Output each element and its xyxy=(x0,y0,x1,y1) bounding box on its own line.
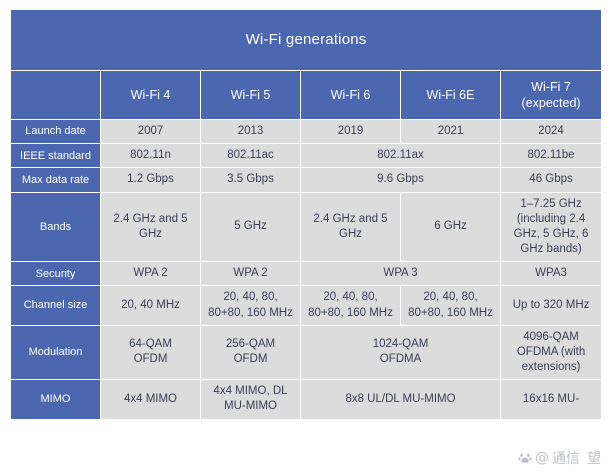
table-cell: 2019 xyxy=(301,120,401,144)
table-row: Modulation64-QAMOFDM256-QAMOFDM1024-QAMO… xyxy=(11,325,602,380)
table-cell: 16x16 MU- xyxy=(501,380,602,419)
table-cell: 2.4 GHz and 5 GHz xyxy=(101,192,201,262)
wifi-generations-table: Wi-Fi generations Wi-Fi 4 Wi-Fi 5 Wi-Fi … xyxy=(10,9,602,420)
page-title: Wi-Fi generations xyxy=(11,10,602,71)
row-label: Modulation xyxy=(11,325,101,380)
table-cell: 5 GHz xyxy=(201,192,301,262)
table-row: Bands2.4 GHz and 5 GHz5 GHz2.4 GHz and 5… xyxy=(11,192,602,262)
table-row: SecurityWPA 2WPA 2WPA 3WPA3 xyxy=(11,262,602,286)
row-label: IEEE standard xyxy=(11,144,101,168)
table-cell: 20, 40, 80, 80+80, 160 MHz xyxy=(201,286,301,325)
row-label: Security xyxy=(11,262,101,286)
row-label: Max data rate xyxy=(11,168,101,192)
screenshot-page: Wi-Fi generations Wi-Fi 4 Wi-Fi 5 Wi-Fi … xyxy=(0,0,611,474)
table-cell: 1024-QAMOFDMA xyxy=(301,325,501,380)
column-header-wifi-7-line1: Wi-Fi 7 xyxy=(531,80,571,94)
table-cell: 802.11ax xyxy=(301,144,501,168)
table-cell: 2024 xyxy=(501,120,602,144)
table-cell: 256-QAMOFDM xyxy=(201,325,301,380)
column-header-wifi-6: Wi-Fi 6 xyxy=(301,71,401,120)
table-row: IEEE standard802.11n802.11ac802.11ax802.… xyxy=(11,144,602,168)
table-cell: 4x4 MIMO, DL MU-MIMO xyxy=(201,380,301,419)
column-header-wifi-6e: Wi-Fi 6E xyxy=(401,71,501,120)
table-row: Launch date20072013201920212024 xyxy=(11,120,602,144)
table-cell: 9.6 Gbps xyxy=(301,168,501,192)
table-cell: WPA3 xyxy=(501,262,602,286)
row-label: Bands xyxy=(11,192,101,262)
column-header-wifi-7-line2: (expected) xyxy=(522,96,581,110)
row-label: MIMO xyxy=(11,380,101,419)
row-label: Launch date xyxy=(11,120,101,144)
table-row: Max data rate1.2 Gbps3.5 Gbps9.6 Gbps46 … xyxy=(11,168,602,192)
column-header-wifi-7: Wi-Fi 7 (expected) xyxy=(501,71,602,120)
table-cell: 1–7.25 GHz (including 2.4 GHz, 5 GHz, 6 … xyxy=(501,192,602,262)
table-cell: 2.4 GHz and 5 GHz xyxy=(301,192,401,262)
table-cell: 802.11ac xyxy=(201,144,301,168)
table-cell: 2013 xyxy=(201,120,301,144)
table-header-row: Wi-Fi 4 Wi-Fi 5 Wi-Fi 6 Wi-Fi 6E Wi-Fi 7… xyxy=(11,71,602,120)
table-cell: 3.5 Gbps xyxy=(201,168,301,192)
watermark: @ 通信 望 xyxy=(517,448,601,468)
watermark-text: 通信 xyxy=(552,448,580,468)
table-cell: 20, 40 MHz xyxy=(101,286,201,325)
table-cell: 20, 40, 80, 80+80, 160 MHz xyxy=(401,286,501,325)
table-cell: 6 GHz xyxy=(401,192,501,262)
row-label: Channel size xyxy=(11,286,101,325)
table-row: MIMO4x4 MIMO4x4 MIMO, DL MU-MIMO8x8 UL/D… xyxy=(11,380,602,419)
column-header-wifi-5: Wi-Fi 5 xyxy=(201,71,301,120)
table-cell: 8x8 UL/DL MU-MIMO xyxy=(301,380,501,419)
table-body: Wi-Fi generations Wi-Fi 4 Wi-Fi 5 Wi-Fi … xyxy=(11,10,602,420)
table-row: Channel size20, 40 MHz20, 40, 80, 80+80,… xyxy=(11,286,602,325)
table-cell: 2007 xyxy=(101,120,201,144)
table-corner-cell xyxy=(11,71,101,120)
table-cell: 802.11n xyxy=(101,144,201,168)
watermark-at-symbol: @ xyxy=(535,450,549,466)
wifi-generations-table-container: Wi-Fi generations Wi-Fi 4 Wi-Fi 5 Wi-Fi … xyxy=(10,9,601,420)
table-cell: WPA 2 xyxy=(101,262,201,286)
table-cell: 4096-QAMOFDMA (with extensions) xyxy=(501,325,602,380)
table-cell: Up to 320 MHz xyxy=(501,286,602,325)
table-cell: 46 Gbps xyxy=(501,168,602,192)
table-cell: 4x4 MIMO xyxy=(101,380,201,419)
table-cell: WPA 2 xyxy=(201,262,301,286)
column-header-wifi-4: Wi-Fi 4 xyxy=(101,71,201,120)
table-cell: 802.11be xyxy=(501,144,602,168)
watermark-tail: 望 xyxy=(587,448,601,468)
table-cell: WPA 3 xyxy=(301,262,501,286)
baidu-paw-icon xyxy=(517,451,532,466)
table-cell: 20, 40, 80, 80+80, 160 MHz xyxy=(301,286,401,325)
table-title-row: Wi-Fi generations xyxy=(11,10,602,71)
table-cell: 64-QAMOFDM xyxy=(101,325,201,380)
table-cell: 2021 xyxy=(401,120,501,144)
table-cell: 1.2 Gbps xyxy=(101,168,201,192)
